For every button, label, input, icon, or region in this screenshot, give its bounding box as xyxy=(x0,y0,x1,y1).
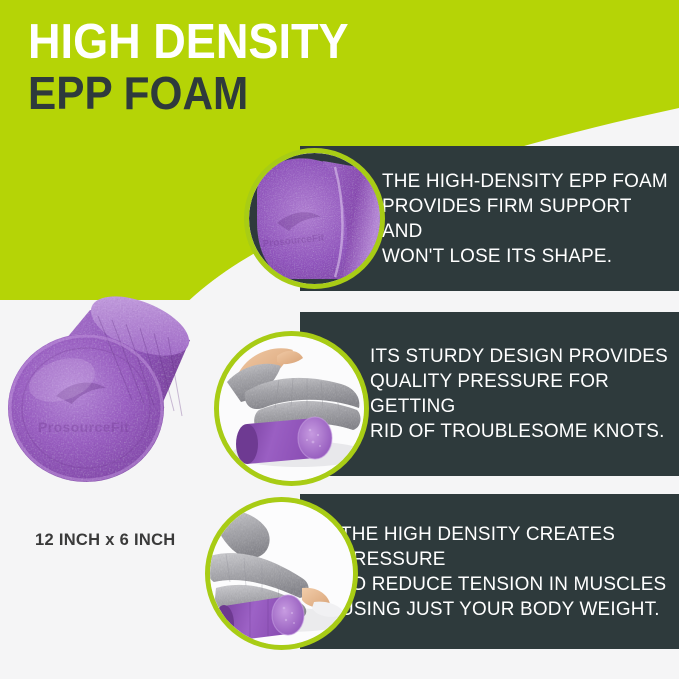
product-infographic: HIGH DENSITY EPP FOAM THE HIGH-DENSITY E… xyxy=(0,0,679,679)
feature-image-3 xyxy=(205,497,358,650)
feature-image-2 xyxy=(214,331,369,486)
foam-texture-photo: ProsourceFit xyxy=(249,153,380,284)
product-hero-image: ProsourceFit xyxy=(0,296,212,496)
page-title: HIGH DENSITY EPP FOAM xyxy=(28,16,376,118)
feature-panel-2-text: ITS STURDY DESIGN PROVIDES QUALITY PRESS… xyxy=(370,344,670,444)
calf-roll-photo xyxy=(210,502,353,645)
svg-text:ProsourceFit: ProsourceFit xyxy=(38,419,129,435)
thigh-roll-photo xyxy=(219,336,364,481)
feature-panel-1-text: THE HIGH-DENSITY EPP FOAM PROVIDES FIRM … xyxy=(382,169,670,269)
feature-panel-3-text: THE HIGH DENSITY CREATES PRESSURE TO RED… xyxy=(340,522,669,622)
dimension-caption: 12 INCH x 6 INCH xyxy=(35,531,176,550)
title-line-primary: HIGH DENSITY xyxy=(28,16,349,68)
title-line-secondary: EPP FOAM xyxy=(28,68,349,118)
feature-image-1: ProsourceFit xyxy=(244,148,385,289)
